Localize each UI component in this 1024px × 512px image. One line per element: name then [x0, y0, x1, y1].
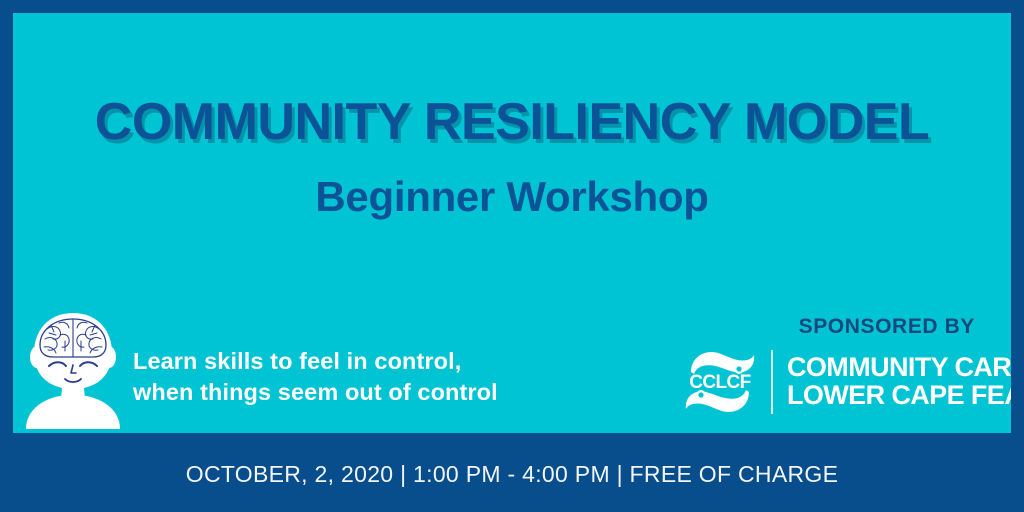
page-title: COMMUNITY RESILIENCY MODEL: [13, 92, 1011, 152]
sponsor-name-line-2: LOWER CAPE FEAR: [787, 382, 1011, 410]
tagline-line-2: when things seem out of control: [133, 377, 498, 408]
sponsored-by-label: SPONSORED BY: [799, 315, 975, 339]
sponsor-name-line-1: COMMUNITY CARE: [787, 354, 1011, 382]
sponsor-name: COMMUNITY CARE LOWER CAPE FEAR: [787, 354, 1011, 409]
sponsor-block: SPONSORED BY CCLCF: [673, 306, 1003, 424]
tagline: Learn skills to feel in control, when th…: [133, 346, 498, 408]
tagline-line-1: Learn skills to feel in control,: [133, 346, 498, 377]
cclcf-emblem-icon: CCLCF: [681, 346, 759, 418]
logo-divider: [771, 350, 773, 414]
page-subtitle: Beginner Workshop: [13, 173, 1011, 221]
sponsor-logo: CCLCF COMMUNITY CARE LOWER CAPE FEAR: [681, 346, 1011, 418]
head-brain-icon: [13, 305, 133, 429]
emblem-text: CCLCF: [689, 372, 750, 393]
flyer-main-panel: COMMUNITY RESILIENCY MODEL Beginner Work…: [13, 13, 1011, 433]
event-details-text: OCTOBER, 2, 2020 | 1:00 PM - 4:00 PM | F…: [0, 461, 1024, 488]
event-flyer: COMMUNITY RESILIENCY MODEL Beginner Work…: [0, 0, 1024, 512]
